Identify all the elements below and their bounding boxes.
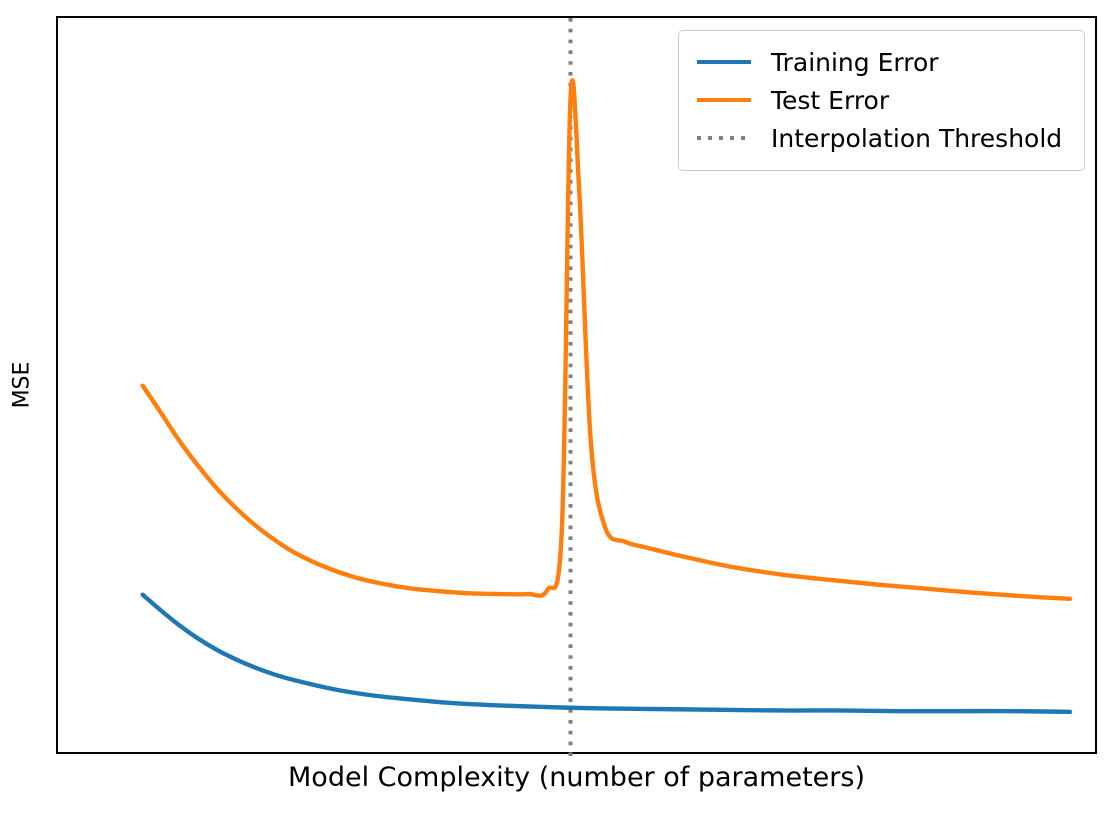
legend-entry-interpolation-threshold: Interpolation Threshold bbox=[693, 119, 1068, 157]
legend-line-test-error bbox=[697, 98, 751, 102]
x-axis-label: Model Complexity (number of parameters) bbox=[56, 762, 1097, 793]
legend-label-training-error: Training Error bbox=[771, 50, 939, 75]
legend-label-interpolation-threshold: Interpolation Threshold bbox=[771, 126, 1062, 151]
legend-swatch-test-error bbox=[693, 81, 755, 119]
legend-entry-test-error: Test Error bbox=[693, 81, 1068, 119]
legend-dot bbox=[741, 136, 745, 140]
training-error-curve bbox=[143, 595, 1070, 712]
legend-dot bbox=[697, 136, 701, 140]
y-axis-label: MSE bbox=[10, 362, 35, 409]
legend: Training Error Test Error Interpolation … bbox=[678, 30, 1085, 171]
legend-dot bbox=[719, 136, 723, 140]
legend-swatch-interpolation-threshold bbox=[693, 119, 755, 157]
legend-entry-training-error: Training Error bbox=[693, 43, 1068, 81]
legend-dotted-line-interpolation-threshold bbox=[697, 136, 751, 140]
legend-label-test-error: Test Error bbox=[771, 88, 889, 113]
legend-dot bbox=[730, 136, 734, 140]
legend-swatch-training-error bbox=[693, 43, 755, 81]
legend-line-training-error bbox=[697, 60, 751, 64]
y-axis-label-container: MSE bbox=[0, 16, 44, 754]
figure-canvas: MSE Model Complexity (number of paramete… bbox=[0, 0, 1116, 814]
legend-dot bbox=[708, 136, 712, 140]
